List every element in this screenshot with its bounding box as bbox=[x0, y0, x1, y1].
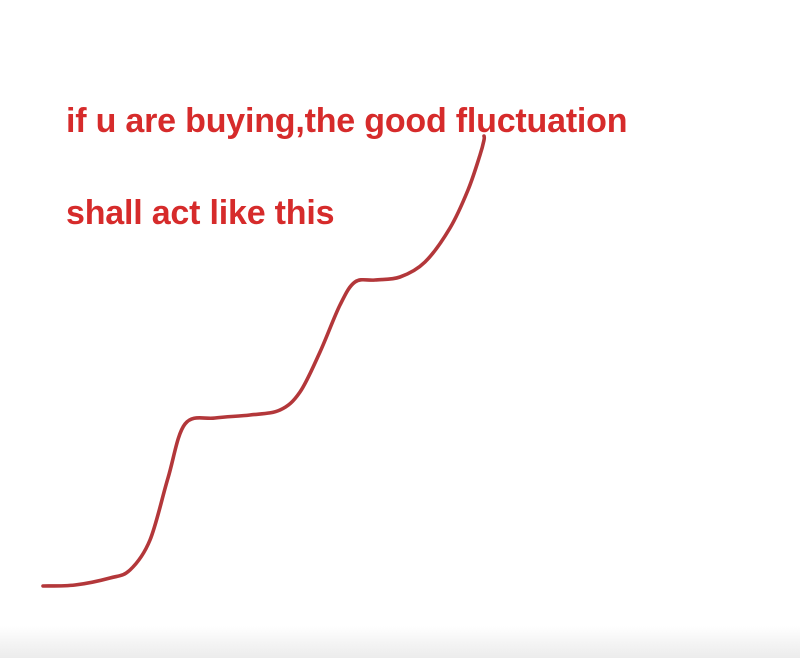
fluctuation-curve-path bbox=[43, 136, 484, 586]
meme-canvas: if u are buying,the good fluctuation sha… bbox=[0, 0, 800, 658]
fluctuation-curve-drawing bbox=[0, 0, 800, 658]
